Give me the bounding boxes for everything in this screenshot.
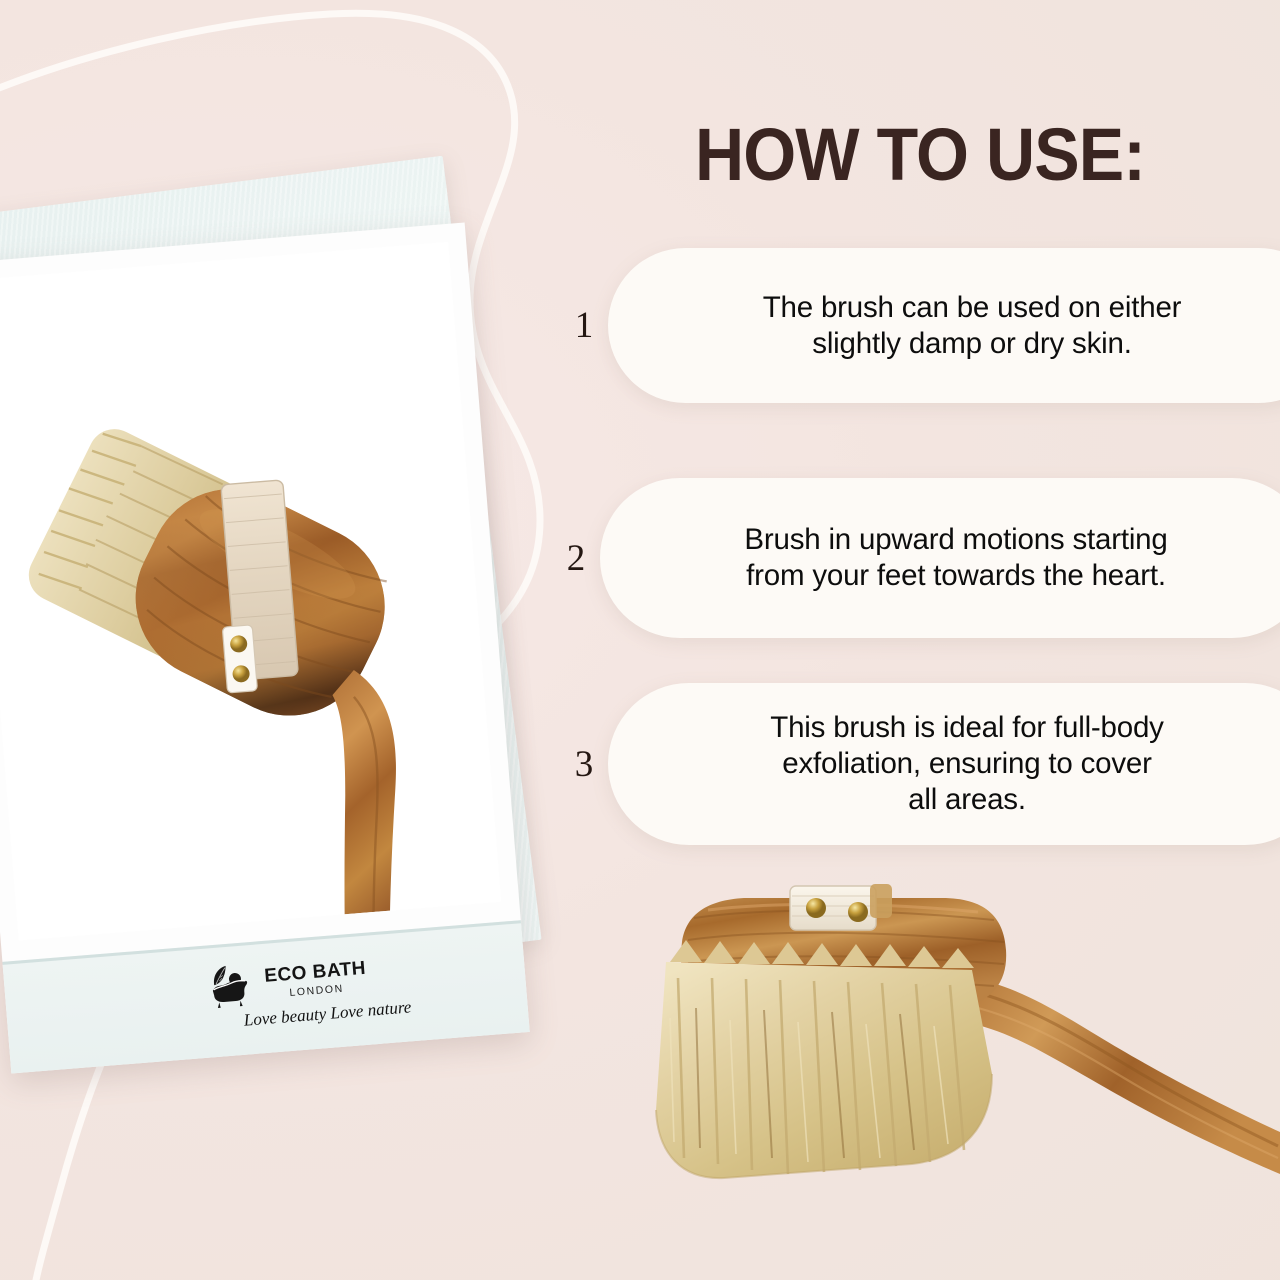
step-item-3: 3 This brush is ideal for full-body exfo… — [560, 683, 1280, 845]
step-pill-1[interactable]: The brush can be used on either slightly… — [608, 248, 1280, 403]
dry-brush-illustration — [0, 242, 501, 941]
step-item-1: 1 The brush can be used on either slight… — [560, 248, 1280, 403]
step-item-2: 2 Brush in upward motions starting from … — [552, 478, 1280, 638]
polaroid-frame: ECO BATH LONDON Love beauty Love nature — [0, 222, 530, 1073]
step-number-3: 3 — [560, 746, 608, 783]
page-title: HOW TO USE: — [662, 118, 1177, 192]
logo-title: ECO BATH — [264, 959, 367, 986]
brass-rivet-icon — [806, 898, 826, 918]
brush-bristles-illustration — [612, 858, 1280, 1218]
step-number-2: 2 — [552, 540, 600, 577]
step-text-3: This brush is ideal for full-body exfoli… — [770, 710, 1163, 818]
step-number-1: 1 — [560, 307, 608, 344]
step-pill-3[interactable]: This brush is ideal for full-body exfoli… — [608, 683, 1280, 845]
step-text-1: The brush can be used on either slightly… — [763, 290, 1182, 362]
polaroid-photo-card: ECO BATH LONDON Love beauty Love nature — [0, 178, 578, 1108]
step-pill-2[interactable]: Brush in upward motions starting from yo… — [600, 478, 1280, 638]
product-photo-bottom — [612, 858, 1280, 1218]
product-photo-top — [0, 242, 501, 941]
poster-canvas: ECO BATH LONDON Love beauty Love nature … — [0, 0, 1280, 1280]
polaroid-photo-alt: olive-wood-dry-body-brush-with-canvas-st… — [0, 0, 1, 1]
bathtub-leaf-icon — [199, 962, 259, 1012]
brass-rivet-icon — [848, 902, 868, 922]
step-text-2: Brush in upward motions starting from yo… — [744, 522, 1167, 594]
polaroid-caption: ECO BATH LONDON Love beauty Love nature — [2, 920, 529, 1073]
eco-bath-logo: ECO BATH LONDON Love beauty Love nature — [199, 942, 505, 1052]
bottom-image-alt: olive-wood-body-brush-bristles-close-up — [0, 0, 1, 1]
